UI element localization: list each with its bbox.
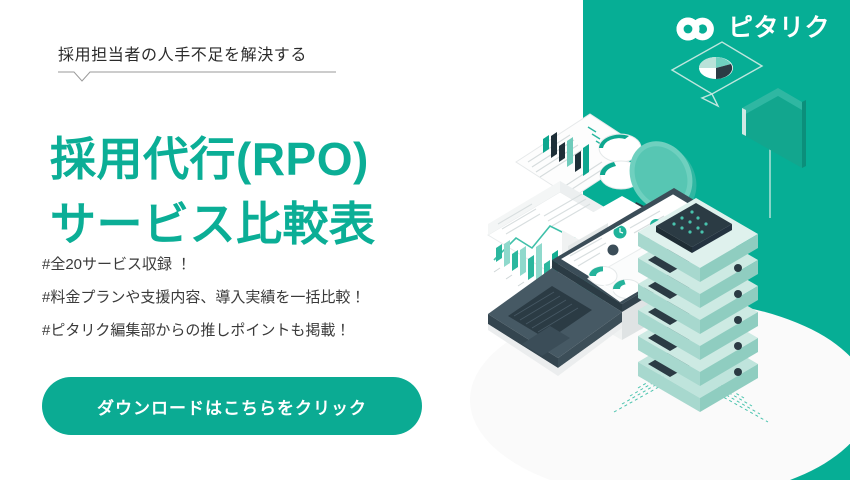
list-item: #料金プランや支援内容、導入実績を一括比較！ [42,290,365,305]
pitariku-double-ring-icon [675,17,719,41]
download-button[interactable]: ダウンロードはこちらをクリック [42,377,422,435]
isometric-analytics-svg [470,10,850,470]
page-title-line-2: サービス比較表 [50,192,376,257]
speech-bubble-pie-chart [672,42,762,106]
folder-icon [742,88,806,218]
promo-banner: ピタリク [0,0,850,480]
page-title-line-1: 採用代行(RPO) [50,127,376,192]
list-item: #ピタリク編集部からの推しポイントも掲載！ [42,323,365,338]
eyebrow-text: 採用担当者の人手不足を解決する [58,41,307,65]
hero-copy: 採用担当者の人手不足を解決する 採用代行(RPO) サービス比較表 #全20サー… [0,0,520,480]
list-item: #全20サービス収録 ！ [42,257,365,272]
page-title: 採用代行(RPO) サービス比較表 [50,127,376,258]
brand-logo-text: ピタリク [728,16,830,41]
feature-list: #全20サービス収録 ！ #料金プランや支援内容、導入実績を一括比較！ #ピタリ… [42,257,365,338]
brand-logo[interactable]: ピタリク [675,16,830,41]
hero-illustration [470,10,850,470]
eyebrow-divider-with-chevron-icon [58,70,336,84]
